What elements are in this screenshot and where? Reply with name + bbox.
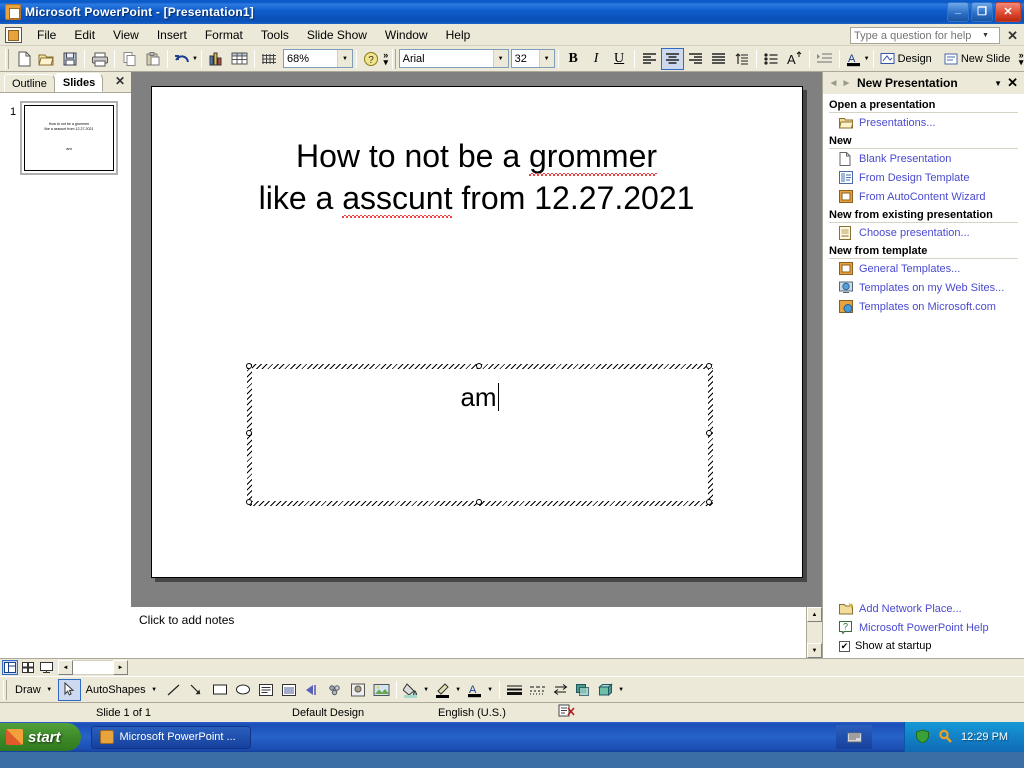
windows-taskbar: start Microsoft PowerPoint ... 12:29 PM xyxy=(0,722,1024,752)
resize-handle-nw[interactable] xyxy=(246,363,252,369)
scroll-track[interactable] xyxy=(73,660,113,675)
font-size-combo[interactable]: 32 ▼ xyxy=(511,49,555,68)
table-icon[interactable] xyxy=(228,48,251,70)
item-general-templates[interactable]: General Templates... xyxy=(823,259,1024,278)
toolbar-separator xyxy=(809,50,810,68)
design-icon xyxy=(880,52,896,66)
taskbar-item-label: Microsoft PowerPoint ... xyxy=(120,731,236,743)
toolbar-separator xyxy=(254,50,255,68)
item-choose-presentation[interactable]: Choose presentation... xyxy=(823,223,1024,242)
system-tray: 12:29 PM xyxy=(904,722,1024,752)
copy-icon[interactable] xyxy=(118,48,141,70)
text-box-icon[interactable] xyxy=(255,679,278,701)
autoshapes-dropdown-arrow-icon[interactable]: ▼ xyxy=(149,687,160,693)
item-powerpoint-help[interactable]: ? Microsoft PowerPoint Help xyxy=(823,618,1024,637)
resize-handle-e[interactable] xyxy=(706,430,712,436)
horizontal-scrollbar[interactable]: ◄ ► xyxy=(58,660,128,675)
taskbar-clock[interactable]: 12:29 PM xyxy=(961,731,1008,743)
slide-number: 1 xyxy=(6,101,20,650)
item-presentations[interactable]: Presentations... xyxy=(823,113,1024,132)
align-left-icon[interactable] xyxy=(638,48,661,70)
slides-panel: Outline Slides ✕ 1 How to not be a gromm… xyxy=(0,72,131,658)
font-name-combo[interactable]: Arial ▼ xyxy=(399,49,509,68)
menu-window[interactable]: Window xyxy=(376,25,437,45)
item-label: Templates on my Web Sites... xyxy=(859,282,1004,294)
scroll-down-icon[interactable]: ▼ xyxy=(807,643,822,658)
start-button[interactable]: start xyxy=(0,723,81,751)
misspelled-word-asscunt: asscunt xyxy=(342,180,452,216)
font-color-icon[interactable]: A xyxy=(843,48,866,70)
item-label: Choose presentation... xyxy=(859,227,970,239)
insert-picture-icon[interactable] xyxy=(370,679,393,701)
section-new-from-existing: New from existing presentation xyxy=(823,206,1024,223)
menu-insert[interactable]: Insert xyxy=(148,25,196,45)
resize-handle-ne[interactable] xyxy=(706,363,712,369)
section-new: New xyxy=(823,132,1024,149)
font-size-value: 32 xyxy=(512,53,539,65)
slide-count-label: Slide 1 of 1 xyxy=(0,707,180,719)
toolbar-separator xyxy=(873,50,874,68)
new-icon[interactable] xyxy=(12,48,35,70)
new-slide-button[interactable]: New Slide xyxy=(940,48,1019,70)
general-templates-icon xyxy=(839,262,853,276)
powerpoint-icon xyxy=(5,4,21,20)
close-document-button[interactable]: ✕ xyxy=(1007,28,1018,44)
choose-presentation-icon xyxy=(839,226,853,240)
help-question-icon: ? xyxy=(839,621,853,635)
select-arrow-icon[interactable] xyxy=(58,679,81,701)
increase-indent-icon[interactable] xyxy=(813,48,836,70)
task-pane-back-icon[interactable]: ◄ xyxy=(827,78,840,89)
close-button[interactable]: ✕ xyxy=(995,2,1021,22)
slide-title-placeholder[interactable]: How to not be a grommer like a asscunt f… xyxy=(192,135,762,219)
web-templates-icon xyxy=(839,281,853,295)
undo-icon[interactable] xyxy=(171,48,194,70)
item-label: Templates on Microsoft.com xyxy=(859,301,996,313)
fill-color-icon[interactable] xyxy=(400,679,423,701)
section-new-from-template: New from template xyxy=(823,242,1024,259)
line-style-icon[interactable] xyxy=(503,679,526,701)
menu-slide-show[interactable]: Slide Show xyxy=(298,25,376,45)
toolbar-overflow-icon[interactable]: »▾ xyxy=(383,52,389,66)
autoshapes-menu-button[interactable]: AutoShapes ▼ xyxy=(81,679,163,701)
design-button[interactable]: Design xyxy=(877,48,940,70)
show-at-startup-label: Show at startup xyxy=(855,640,931,652)
paste-icon[interactable] xyxy=(141,48,164,70)
slide-thumbnail-1[interactable]: How to not be a grommer like a asscunt f… xyxy=(20,101,118,175)
drawing-toolbar: Draw ▼ AutoShapes ▼ ▼ ▼ A ▼ ▼ xyxy=(0,676,1024,702)
save-icon[interactable] xyxy=(58,48,81,70)
font-name-value: Arial xyxy=(400,53,493,65)
item-label: From AutoContent Wizard xyxy=(859,191,986,203)
toolbar-separator xyxy=(499,681,500,699)
toolbar-separator xyxy=(396,681,397,699)
formatting-overflow-icon[interactable]: »▾ xyxy=(1018,52,1024,66)
window-title: Microsoft PowerPoint - [Presentation1] xyxy=(25,5,254,19)
misspelled-word-grommer: grommer xyxy=(529,138,657,174)
line-color-icon[interactable] xyxy=(432,679,455,701)
add-network-place-icon xyxy=(839,602,853,616)
toolbar-separator xyxy=(201,50,202,68)
notes-scrollbar[interactable]: ▲ ▼ xyxy=(806,607,822,658)
open-icon[interactable] xyxy=(35,48,58,70)
align-right-icon[interactable] xyxy=(684,48,707,70)
svg-text:A: A xyxy=(787,52,796,66)
standard-toolbar: ▼ 68% ▼ ? »▾ Arial ▼ 32 ▼ B I U xyxy=(0,46,1024,72)
formatting-toolbar-grip[interactable] xyxy=(392,49,396,69)
autocontent-wizard-icon xyxy=(839,190,853,204)
subtitle-text: am xyxy=(247,382,713,413)
slide-canvas-area[interactable]: How to not be a grommer like a asscunt f… xyxy=(131,72,822,606)
menu-format[interactable]: Format xyxy=(196,25,252,45)
zoom-value: 68% xyxy=(284,53,337,65)
title-line-2: like a asscunt from 12.27.2021 xyxy=(259,180,695,216)
menu-tools[interactable]: Tools xyxy=(252,25,298,45)
slide-canvas[interactable]: How to not be a grommer like a asscunt f… xyxy=(151,86,803,578)
window-title-bar: Microsoft PowerPoint - [Presentation1] _… xyxy=(0,0,1024,24)
editing-area: How to not be a grommer like a asscunt f… xyxy=(131,72,822,658)
menu-file[interactable]: File xyxy=(28,25,65,45)
menu-bar: File Edit View Insert Format Tools Slide… xyxy=(0,24,1024,46)
thumbnail-canvas: How to not be a grommer like a asscunt f… xyxy=(24,105,114,171)
item-label: From Design Template xyxy=(859,172,969,184)
insert-clip-art-icon[interactable] xyxy=(347,679,370,701)
resize-handle-n[interactable] xyxy=(476,363,482,369)
menu-help[interactable]: Help xyxy=(437,25,480,45)
slide-thumbnail-list[interactable]: 1 How to not be a grommer like a asscunt… xyxy=(0,92,131,658)
scroll-right-icon[interactable]: ► xyxy=(113,660,128,675)
thumbnail-title: How to not be a grommer like a asscunt f… xyxy=(29,122,110,132)
task-pane-forward-icon[interactable]: ► xyxy=(840,78,853,89)
item-from-design-template[interactable]: From Design Template xyxy=(823,168,1024,187)
microsoft-templates-icon xyxy=(839,300,853,314)
resize-handle-w[interactable] xyxy=(246,430,252,436)
title-line-1: How to not be a grommer xyxy=(296,138,657,174)
minimize-button[interactable]: _ xyxy=(947,2,969,22)
toolbar-separator xyxy=(84,50,85,68)
toolbar-separator xyxy=(634,50,635,68)
3d-style-icon[interactable] xyxy=(595,679,618,701)
zoom-combo[interactable]: 68% ▼ xyxy=(283,49,353,68)
blank-page-icon xyxy=(839,152,853,166)
show-at-startup-checkbox[interactable]: ✔ xyxy=(839,641,850,652)
restore-button[interactable]: ❐ xyxy=(971,2,993,22)
toolbar-separator xyxy=(114,50,115,68)
close-panel-button[interactable]: ✕ xyxy=(115,74,125,88)
task-pane-footer: Add Network Place... ? Microsoft PowerPo… xyxy=(823,599,1024,658)
draw-label: Draw xyxy=(13,684,46,696)
new-slide-icon xyxy=(943,52,959,66)
item-label: General Templates... xyxy=(859,263,960,275)
font-size-dropdown-arrow-icon[interactable]: ▼ xyxy=(539,50,554,67)
language-bar-icon[interactable] xyxy=(836,725,872,749)
diagram-icon[interactable] xyxy=(301,679,324,701)
resize-handle-sw[interactable] xyxy=(246,499,252,505)
task-pane-close-button[interactable]: ✕ xyxy=(1007,75,1020,91)
zoom-dropdown-arrow-icon[interactable]: ▼ xyxy=(337,50,352,67)
task-pane-title: New Presentation xyxy=(853,76,989,90)
view-buttons-bar: ◄ ► xyxy=(0,658,1024,676)
item-templates-on-microsoft-com[interactable]: Templates on Microsoft.com xyxy=(823,297,1024,316)
notes-pane[interactable]: Click to add notes ▲ ▼ xyxy=(131,606,822,658)
rectangle-icon[interactable] xyxy=(209,679,232,701)
slide-subtitle-placeholder[interactable]: am xyxy=(247,364,713,506)
text-caret xyxy=(498,383,499,411)
new-slide-label: New Slide xyxy=(959,53,1016,65)
item-label: Microsoft PowerPoint Help xyxy=(859,622,989,634)
toolbar-grip[interactable] xyxy=(5,49,9,69)
font-color-icon[interactable]: A xyxy=(464,679,487,701)
line-icon[interactable] xyxy=(163,679,186,701)
shield-icon[interactable] xyxy=(915,729,930,746)
powerpoint-icon xyxy=(100,730,114,744)
document-icon[interactable] xyxy=(5,27,22,43)
svg-text:?: ? xyxy=(369,55,375,66)
normal-view-icon[interactable] xyxy=(2,660,18,675)
scroll-up-icon[interactable]: ▲ xyxy=(807,607,822,622)
item-add-network-place[interactable]: Add Network Place... xyxy=(823,599,1024,618)
resize-handle-se[interactable] xyxy=(706,499,712,505)
help-search-input[interactable] xyxy=(851,28,979,43)
svg-text:?: ? xyxy=(843,621,848,631)
toolbar-separator xyxy=(756,50,757,68)
language-label[interactable]: English (U.S.) xyxy=(400,707,550,719)
italic-icon[interactable]: I xyxy=(585,48,608,70)
item-label: Presentations... xyxy=(859,117,935,129)
design-template-icon xyxy=(839,171,853,185)
panel-tabs: Outline Slides ✕ xyxy=(0,72,131,92)
font-name-dropdown-arrow-icon[interactable]: ▼ xyxy=(493,50,508,67)
word-art-icon[interactable] xyxy=(278,679,301,701)
search-icon[interactable] xyxy=(938,729,953,746)
show-at-startup-row[interactable]: ✔ Show at startup xyxy=(823,637,1024,652)
draw-menu-button[interactable]: Draw ▼ xyxy=(10,679,58,701)
help-assistant-icon[interactable]: ? xyxy=(360,48,383,70)
item-from-autocontent-wizard[interactable]: From AutoContent Wizard xyxy=(823,187,1024,206)
bold-icon[interactable]: B xyxy=(562,48,585,70)
item-label: Add Network Place... xyxy=(859,603,962,615)
toolbar-separator xyxy=(558,50,559,68)
underline-icon[interactable]: U xyxy=(608,48,631,70)
chevron-down-icon[interactable]: ▼ xyxy=(979,28,992,43)
tab-slides[interactable]: Slides xyxy=(55,73,103,92)
windows-flag-icon xyxy=(6,729,23,745)
main-area: Outline Slides ✕ 1 How to not be a gromm… xyxy=(0,72,1024,658)
line-spacing-icon[interactable] xyxy=(730,48,753,70)
slide-sorter-icon[interactable] xyxy=(20,660,36,675)
print-icon[interactable] xyxy=(88,48,111,70)
drawing-toolbar-grip[interactable] xyxy=(3,680,7,700)
justify-icon[interactable] xyxy=(707,48,730,70)
autoshapes-label: AutoShapes xyxy=(84,684,151,696)
toolbar-separator xyxy=(356,50,357,68)
notes-placeholder[interactable]: Click to add notes xyxy=(131,607,242,658)
taskbar-item-powerpoint[interactable]: Microsoft PowerPoint ... xyxy=(91,726,251,749)
arrow-icon[interactable] xyxy=(186,679,209,701)
window-controls: _ ❐ ✕ xyxy=(947,2,1021,22)
item-label: Blank Presentation xyxy=(859,153,951,165)
toolbar-separator xyxy=(839,50,840,68)
align-center-icon[interactable] xyxy=(661,48,684,70)
increase-font-size-icon[interactable]: A xyxy=(783,48,806,70)
section-open-a-presentation: Open a presentation xyxy=(823,96,1024,113)
task-pane: ◄ ► New Presentation ▼ ✕ Open a presenta… xyxy=(822,72,1024,658)
tab-outline[interactable]: Outline xyxy=(4,74,55,92)
shadow-style-icon[interactable] xyxy=(572,679,595,701)
design-label: Design xyxy=(896,53,937,65)
menu-view[interactable]: View xyxy=(104,25,148,45)
task-pane-header: ◄ ► New Presentation ▼ ✕ xyxy=(823,72,1024,94)
task-pane-dropdown-icon[interactable]: ▼ xyxy=(989,79,1007,88)
ask-a-question-box[interactable]: ▼ xyxy=(850,27,1000,44)
item-templates-on-my-web-sites[interactable]: Templates on my Web Sites... xyxy=(823,278,1024,297)
item-blank-presentation[interactable]: Blank Presentation xyxy=(823,149,1024,168)
clip-art-icon[interactable] xyxy=(324,679,347,701)
scroll-left-icon[interactable]: ◄ xyxy=(58,660,73,675)
resize-handle-s[interactable] xyxy=(476,499,482,505)
toolbar-separator xyxy=(167,50,168,68)
grid-icon[interactable] xyxy=(258,48,281,70)
open-folder-icon xyxy=(839,116,853,130)
thumbnail-subtitle: am xyxy=(25,146,113,151)
spell-check-error-icon[interactable] xyxy=(550,704,576,721)
status-bar: Slide 1 of 1 Default Design English (U.S… xyxy=(0,702,1024,722)
task-pane-body: Open a presentation Presentations... New… xyxy=(823,94,1024,599)
slide-show-icon[interactable] xyxy=(38,660,54,675)
design-label: Default Design xyxy=(180,707,400,719)
menu-edit[interactable]: Edit xyxy=(65,25,104,45)
draw-dropdown-arrow-icon[interactable]: ▼ xyxy=(44,687,55,693)
dash-style-icon[interactable] xyxy=(526,679,549,701)
start-label: start xyxy=(28,729,61,746)
arrow-style-icon[interactable] xyxy=(549,679,572,701)
bullets-icon[interactable] xyxy=(760,48,783,70)
oval-icon[interactable] xyxy=(232,679,255,701)
chart-icon[interactable] xyxy=(205,48,228,70)
